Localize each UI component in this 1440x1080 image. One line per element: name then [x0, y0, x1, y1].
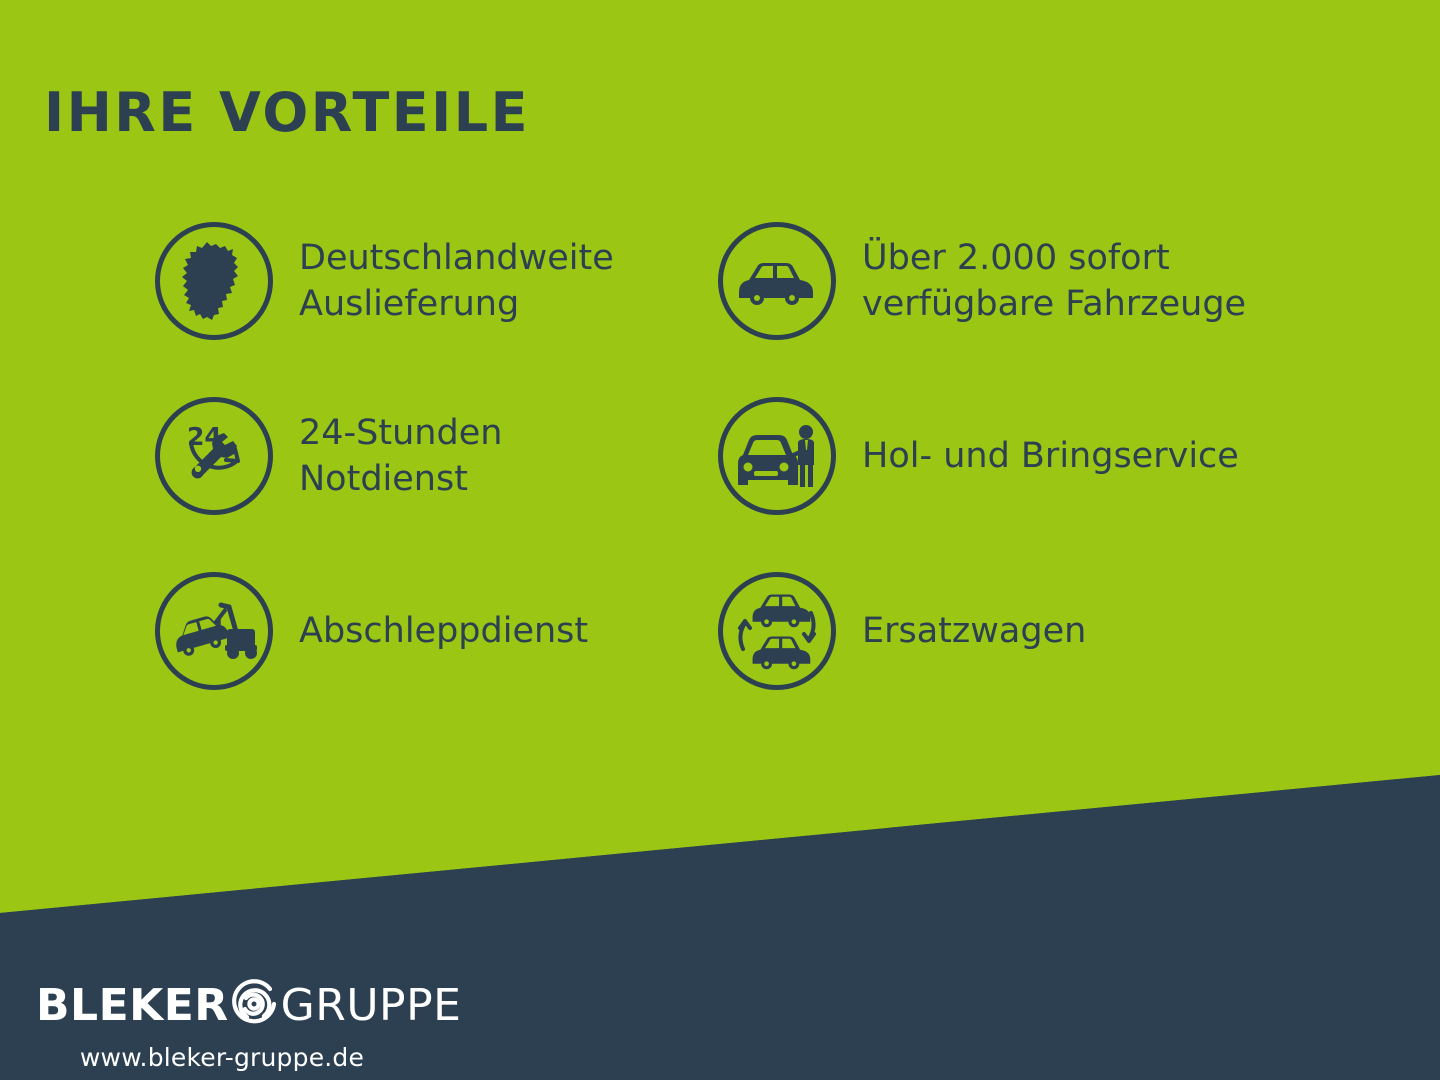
car-side-icon — [718, 222, 836, 340]
benefit-item-hol-und-bringservice[interactable]: Hol- und Bringservice — [718, 397, 1239, 515]
benefit-label: Ersatzwagen — [862, 608, 1086, 654]
tow-truck-icon — [155, 572, 273, 690]
logo-secondary-text: GRUPPE — [281, 984, 462, 1028]
benefit-label: 24-Stunden Notdienst — [299, 410, 502, 502]
page-title: IHRE VORTEILE — [44, 86, 530, 140]
benefit-label: Über 2.000 sofort verfügbare Fahrzeuge — [862, 235, 1246, 327]
benefit-label: Abschleppdienst — [299, 608, 588, 654]
benefit-item-24-stunden-notdienst[interactable]: 24 24-Stunden Notdienst — [155, 397, 502, 515]
spiral-icon — [223, 973, 285, 1039]
benefit-item-deutschlandweite-auslieferung[interactable]: Deutschlandweite Auslieferung — [155, 222, 614, 340]
benefit-item-ersatzwagen[interactable]: Ersatzwagen — [718, 572, 1086, 690]
website-url[interactable]: www.bleker-gruppe.de — [36, 1043, 408, 1072]
logo-primary-text: BLEKER — [36, 984, 229, 1028]
two-cars-exchange-icon — [718, 572, 836, 690]
company-logo[interactable]: BLEKER GRUPPE www.bleker-gruppe.de — [36, 975, 456, 1072]
benefit-label: Hol- und Bringservice — [862, 433, 1239, 479]
germany-map-icon — [155, 222, 273, 340]
car-front-person-icon — [718, 397, 836, 515]
benefit-item-abschleppdienst[interactable]: Abschleppdienst — [155, 572, 588, 690]
benefit-item-verfuegbare-fahrzeuge[interactable]: Über 2.000 sofort verfügbare Fahrzeuge — [718, 222, 1246, 340]
clock-24-wrench-icon: 24 — [155, 397, 273, 515]
benefit-label: Deutschlandweite Auslieferung — [299, 235, 614, 327]
slide-root: IHRE VORTEILE Deutschlandweite Ausliefer… — [0, 0, 1440, 1080]
logo-wordmark-row: BLEKER GRUPPE — [36, 975, 456, 1037]
